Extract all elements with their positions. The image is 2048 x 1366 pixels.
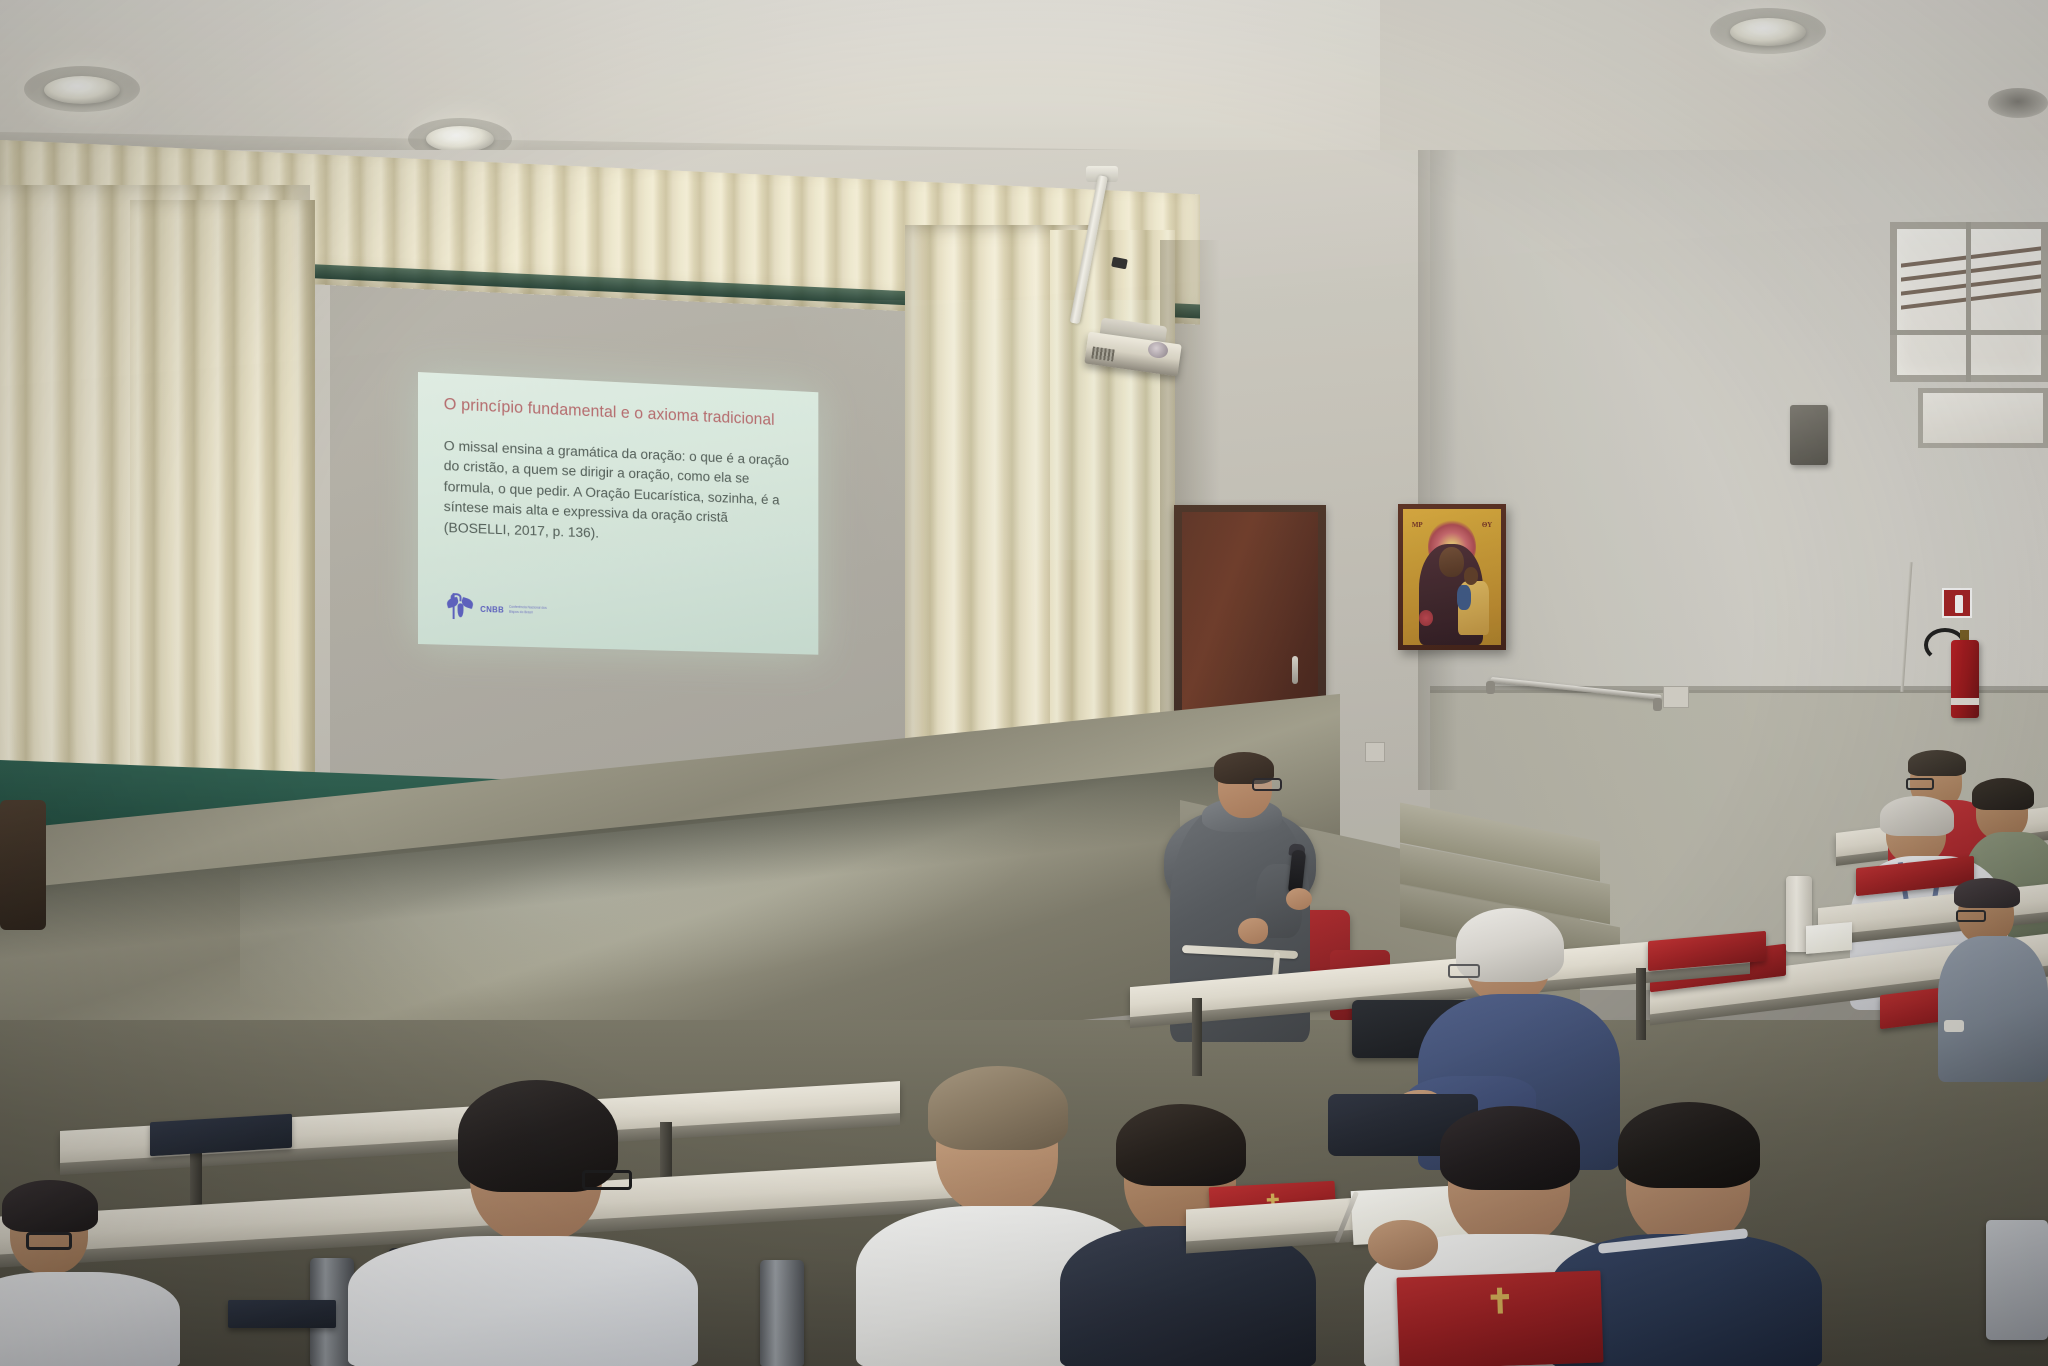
- audience-person-foreground-white-shirt: [404, 1086, 704, 1366]
- chair-left-edge[interactable]: [0, 800, 46, 930]
- wall-junction-box: [1365, 742, 1385, 762]
- audience-torso-white-shirt: [348, 1236, 698, 1366]
- icon-inscription-left: ΜΡ: [1412, 521, 1423, 529]
- fire-extinguisher-sign-icon: [1942, 588, 1972, 618]
- dark-notebook[interactable]: [228, 1300, 336, 1328]
- window-mullion-horizontal: [1890, 330, 2048, 335]
- desk-leg: [1636, 968, 1646, 1040]
- presenter-glasses-icon: [1252, 778, 1282, 791]
- presenter-gesturing-hand: [1238, 918, 1268, 944]
- cnbb-logo: CNBB Conferência Nacional dos Bispos do …: [446, 593, 554, 626]
- door-handle-icon[interactable]: [1292, 656, 1298, 684]
- audience-person-left-edge: [0, 1180, 190, 1366]
- window-mullion-vertical: [1966, 222, 1971, 382]
- missal-cross-emblem-icon: ✝: [1457, 1285, 1542, 1322]
- cnbb-logo-text: CNBB: [480, 604, 504, 614]
- tablet-device[interactable]: [1986, 1220, 2048, 1340]
- audience-glasses-icon: [582, 1170, 632, 1190]
- ceiling-light-5: [1730, 18, 1806, 46]
- ceiling-light-6-ring: [1988, 88, 2048, 118]
- wall-icon-frame: ΜΡ ΘΥ: [1398, 504, 1506, 650]
- handrail-bracket-left: [1486, 681, 1495, 694]
- audience-glasses-icon: [26, 1232, 72, 1250]
- audience-hair: [1908, 750, 1966, 776]
- projection-screen: O princípio fundamental e o axioma tradi…: [418, 372, 818, 655]
- audience-hair: [1618, 1102, 1760, 1188]
- handrail-bracket-right: [1653, 698, 1662, 711]
- audience-person-navy-shirt: [1568, 1106, 1818, 1366]
- audience-person-grey-shirt: [1938, 880, 2048, 1080]
- lecture-hall-photo: O princípio fundamental e o axioma tradi…: [0, 0, 2048, 1366]
- wristwatch-icon: [1944, 1020, 1964, 1032]
- wall-speaker: [1790, 405, 1828, 465]
- travel-tumbler[interactable]: [760, 1260, 804, 1366]
- audience-hand-with-pen: [1368, 1220, 1438, 1270]
- audience-white-hair: [1880, 796, 1954, 836]
- slide-body-text: O missal ensina a gramática da oração: o…: [444, 436, 794, 551]
- wall-corner-shadow: [1418, 150, 1458, 790]
- cnbb-logo-subtitle: Conferência Nacional dos Bispos do Brasi…: [509, 605, 554, 615]
- audience-hair: [1440, 1106, 1580, 1190]
- audience-hair: [2, 1180, 98, 1232]
- ceiling-light-2: [426, 126, 494, 152]
- cnbb-dove-icon: [446, 593, 476, 624]
- audience-hair: [1116, 1104, 1246, 1186]
- desk-leg: [1192, 998, 1202, 1076]
- theotokos-icon: ΜΡ ΘΥ: [1403, 509, 1501, 645]
- audience-torso-white-shirt: [0, 1272, 180, 1366]
- audience-glasses-icon: [1448, 964, 1480, 978]
- audience-hair: [1954, 878, 2020, 908]
- wall-switch-plate[interactable]: [1663, 686, 1689, 708]
- extinguisher-label-band: [1951, 698, 1979, 705]
- window-lower-right: [1918, 388, 2048, 448]
- ceiling-light-1: [44, 76, 120, 104]
- icon-inscription-right: ΘΥ: [1482, 521, 1492, 529]
- notepad[interactable]: [1806, 922, 1852, 954]
- audience-torso-grey: [1938, 936, 2048, 1082]
- slide-title: O princípio fundamental e o axioma tradi…: [444, 395, 809, 431]
- audience-glasses-icon: [1956, 910, 1986, 922]
- fire-extinguisher: [1951, 640, 1979, 718]
- audience-hair: [928, 1066, 1068, 1150]
- audience-glasses-icon: [1906, 778, 1934, 790]
- presenter-hand-holding-mic: [1286, 888, 1312, 910]
